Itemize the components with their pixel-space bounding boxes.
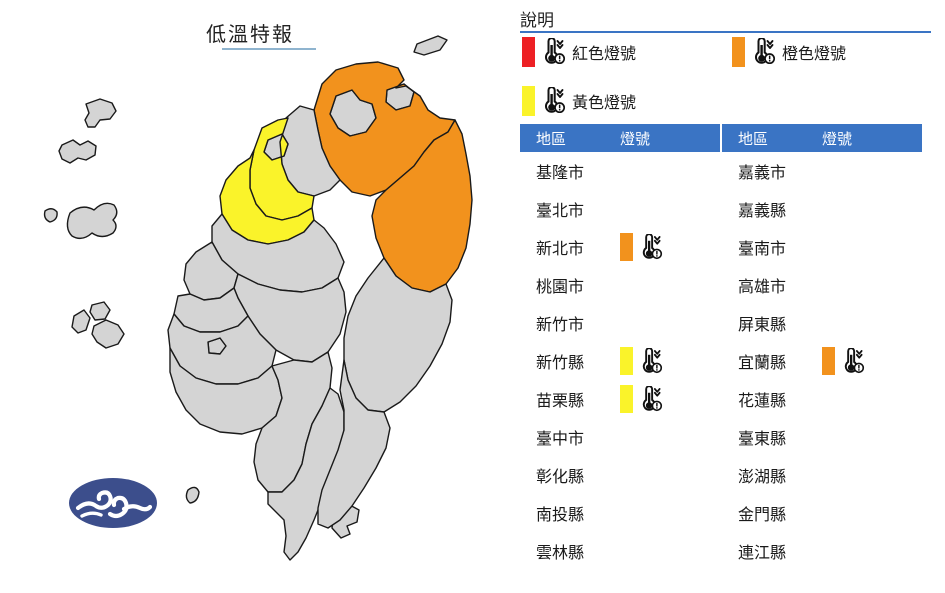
signal-swatch <box>620 347 633 375</box>
island-penghu-b <box>90 302 110 320</box>
region-name: 澎湖縣 <box>722 463 816 487</box>
region-name: 基隆市 <box>520 159 614 183</box>
region-name: 宜蘭縣 <box>722 349 816 373</box>
table-body-left: 基隆市臺北市新北市桃園市新竹市新竹縣苗栗縣臺中市彰化縣南投縣雲林縣 <box>520 152 720 570</box>
region-name: 花蓮縣 <box>722 387 816 411</box>
table-row[interactable]: 臺中市 <box>520 418 720 456</box>
low-temperature-icon <box>540 38 566 66</box>
island-pengjia <box>414 36 447 55</box>
region-name: 苗栗縣 <box>520 387 614 411</box>
table-body-right: 嘉義市嘉義縣臺南市高雄市屏東縣宜蘭縣花蓮縣臺東縣澎湖縣金門縣連江縣 <box>722 152 922 570</box>
table-row[interactable]: 屏東縣 <box>722 304 922 342</box>
table-row[interactable]: 花蓮縣 <box>722 380 922 418</box>
region-name: 彰化縣 <box>520 463 614 487</box>
legend-heading: 說明 <box>520 6 554 31</box>
region-name: 臺北市 <box>520 197 614 221</box>
table-header-row: 地區 燈號 <box>722 124 922 152</box>
column-header-region: 地區 <box>722 128 816 149</box>
legend-label-red: 紅色燈號 <box>572 40 636 64</box>
signal-swatch <box>822 347 835 375</box>
legend-swatch-red <box>522 37 535 67</box>
table-row[interactable]: 臺南市 <box>722 228 922 266</box>
region-name: 嘉義市 <box>722 159 816 183</box>
low-temperature-icon <box>638 348 663 375</box>
island-kinmen-small <box>45 209 58 222</box>
region-name: 高雄市 <box>722 273 816 297</box>
table-row[interactable]: 苗栗縣 <box>520 380 720 418</box>
table-row[interactable]: 嘉義市 <box>722 152 922 190</box>
signal-swatch <box>620 233 633 261</box>
table-row[interactable]: 臺北市 <box>520 190 720 228</box>
region-name: 臺東縣 <box>722 425 816 449</box>
legend-label-yellow: 黃色燈號 <box>572 89 636 113</box>
island-matsu-a <box>85 99 116 127</box>
signal-cell <box>614 347 714 375</box>
island-matsu-b <box>59 140 96 163</box>
legend-item-orange: 橙色燈號 <box>732 36 846 68</box>
region-name: 連江縣 <box>722 539 816 563</box>
legend-label-orange: 橙色燈號 <box>782 40 846 64</box>
table-row[interactable]: 臺東縣 <box>722 418 922 456</box>
island-kinmen-main <box>67 203 116 238</box>
table-row[interactable]: 高雄市 <box>722 266 922 304</box>
table-row[interactable]: 新竹市 <box>520 304 720 342</box>
info-panel: 說明 紅色燈號 <box>500 0 945 589</box>
signal-cell <box>816 347 916 375</box>
table-row[interactable]: 連江縣 <box>722 532 922 570</box>
table-row[interactable]: 南投縣 <box>520 494 720 532</box>
column-header-signal: 燈號 <box>614 128 704 149</box>
low-temperature-icon <box>638 234 663 261</box>
region-name: 新竹市 <box>520 311 614 335</box>
column-header-signal: 燈號 <box>816 128 906 149</box>
table-header-row: 地區 燈號 <box>520 124 720 152</box>
low-temperature-icon <box>840 348 865 375</box>
table-row[interactable]: 宜蘭縣 <box>722 342 922 380</box>
cwa-logo <box>68 472 158 534</box>
map-panel: 低溫特報 <box>0 0 500 589</box>
region-name: 桃園市 <box>520 273 614 297</box>
table-row[interactable]: 基隆市 <box>520 152 720 190</box>
column-header-region: 地區 <box>520 128 614 149</box>
table-row[interactable]: 金門縣 <box>722 494 922 532</box>
table-row[interactable]: 澎湖縣 <box>722 456 922 494</box>
region-name: 臺南市 <box>722 235 816 259</box>
table-row[interactable]: 嘉義縣 <box>722 190 922 228</box>
island-penghu-c <box>92 320 124 348</box>
legend-item-red: 紅色燈號 <box>522 36 636 68</box>
region-name: 臺中市 <box>520 425 614 449</box>
region-table-right: 地區 燈號 嘉義市嘉義縣臺南市高雄市屏東縣宜蘭縣花蓮縣臺東縣澎湖縣金門縣連江縣 <box>722 124 922 570</box>
table-row[interactable]: 新北市 <box>520 228 720 266</box>
legend-swatch-yellow <box>522 86 535 116</box>
region-name: 南投縣 <box>520 501 614 525</box>
region-name: 新竹縣 <box>520 349 614 373</box>
region-name: 屏東縣 <box>722 311 816 335</box>
signal-swatch <box>620 385 633 413</box>
legend-swatch-orange <box>732 37 745 67</box>
table-row[interactable]: 新竹縣 <box>520 342 720 380</box>
low-temperature-icon <box>540 87 566 115</box>
region-table-left: 地區 燈號 基隆市臺北市新北市桃園市新竹市新竹縣苗栗縣臺中市彰化縣南投縣雲林縣 <box>520 124 720 570</box>
signal-cell <box>614 233 714 261</box>
region-name: 新北市 <box>520 235 614 259</box>
signal-cell <box>614 385 714 413</box>
legend-divider <box>520 31 931 33</box>
legend-item-yellow: 黃色燈號 <box>522 85 636 117</box>
table-row[interactable]: 雲林縣 <box>520 532 720 570</box>
island-west-islet <box>186 487 199 503</box>
island-penghu-a <box>72 310 90 333</box>
low-temperature-icon <box>750 38 776 66</box>
region-name: 金門縣 <box>722 501 816 525</box>
table-row[interactable]: 桃園市 <box>520 266 720 304</box>
region-name: 雲林縣 <box>520 539 614 563</box>
region-name: 嘉義縣 <box>722 197 816 221</box>
table-row[interactable]: 彰化縣 <box>520 456 720 494</box>
low-temperature-icon <box>638 386 663 413</box>
